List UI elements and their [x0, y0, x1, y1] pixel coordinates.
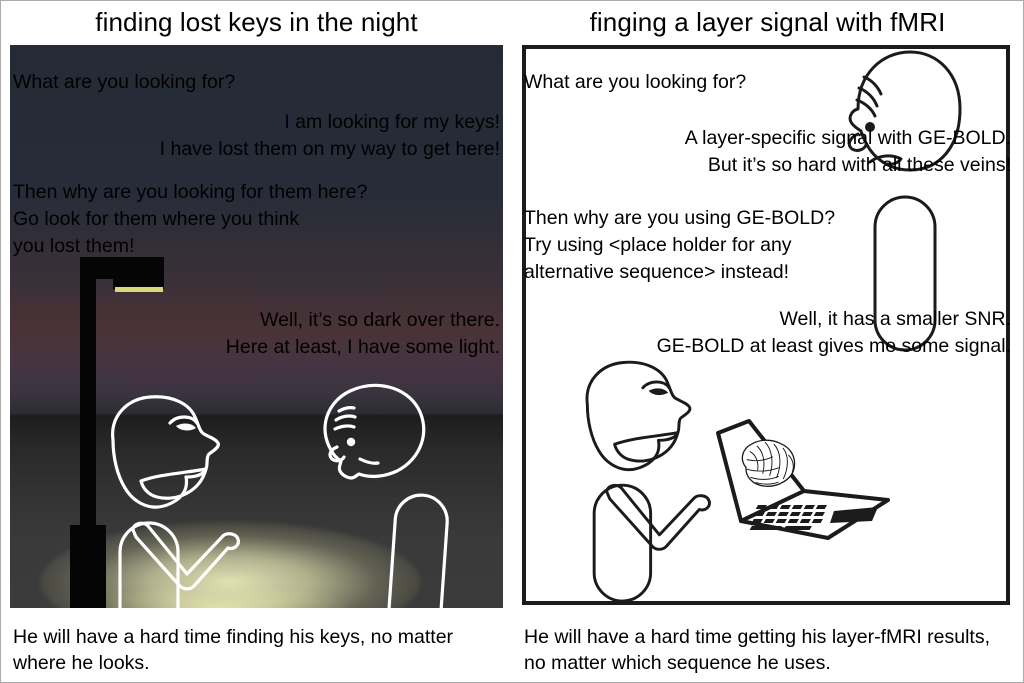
caption-right: He will have a hard time getting his lay…: [524, 624, 1010, 676]
comic-frame: finding lost keys in the night: [0, 0, 1024, 683]
caption-left: He will have a hard time finding his key…: [13, 624, 493, 676]
panel-left: finding lost keys in the night: [1, 1, 512, 682]
panel-right-title: finging a layer signal with fMRI: [512, 5, 1023, 39]
panel-left-title: finding lost keys in the night: [1, 5, 512, 39]
fmri-scene-image: [522, 45, 1010, 605]
stick-figure-listening: [10, 45, 503, 608]
night-scene-image: [10, 45, 503, 608]
panel-right: finging a layer signal with fMRI: [512, 1, 1023, 682]
stick-figure-frowning: [526, 49, 1006, 601]
